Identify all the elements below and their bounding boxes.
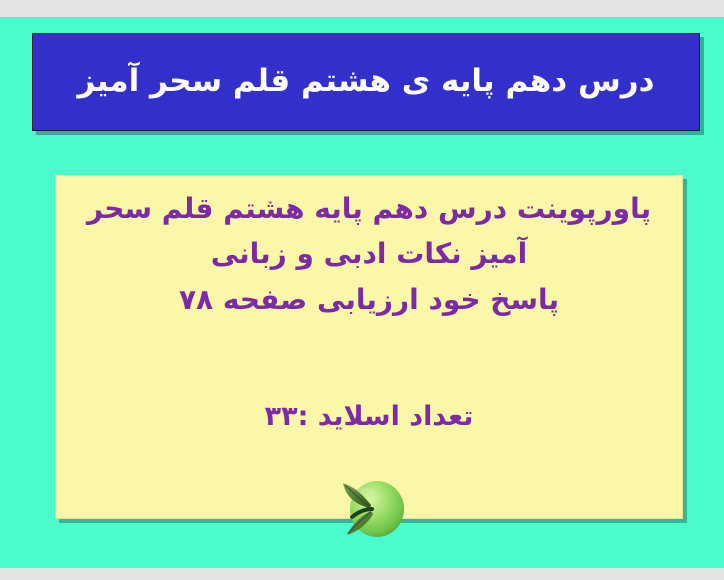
green-apple-icon	[327, 473, 413, 543]
slide-viewer: درس دهم پایه ی هشتم قلم سحر آمیز پاورپوی…	[0, 0, 724, 580]
body-line-3: پاسخ خود ارزیابی صفحه ۷۸	[74, 277, 664, 322]
body-text-block: پاورپوینت درس دهم پایه هشتم قلم سحر آمیز…	[56, 186, 682, 322]
slide-body-panel: پاورپوینت درس دهم پایه هشتم قلم سحر آمیز…	[55, 175, 683, 519]
slide-title-box: درس دهم پایه ی هشتم قلم سحر آمیز	[32, 33, 700, 131]
slide-canvas: درس دهم پایه ی هشتم قلم سحر آمیز پاورپوی…	[0, 17, 724, 568]
body-line-2: آمیز نکات ادبی و زبانی	[74, 231, 664, 276]
page-title: درس دهم پایه ی هشتم قلم سحر آمیز	[63, 63, 668, 100]
body-line-1: پاورپوینت درس دهم پایه هشتم قلم سحر	[74, 186, 664, 231]
slide-count-text: تعداد اسلاید :۳۳	[56, 401, 682, 432]
